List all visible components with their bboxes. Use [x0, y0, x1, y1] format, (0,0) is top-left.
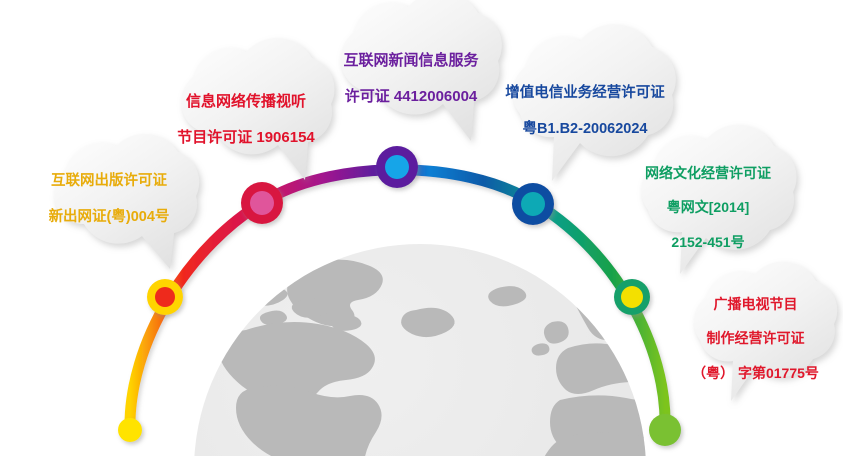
node-network-av[interactable] [241, 182, 283, 224]
bubble-text-line: 新出网证(粤)004号 [49, 209, 170, 227]
node-telecom-value-added[interactable] [512, 183, 554, 225]
node-network-culture[interactable] [614, 279, 650, 315]
bubble-network-culture-license[interactable]: 网络文化经营许可证 粤网文[2014] 2152-451号 [610, 168, 806, 248]
bubble-text-line: 粤B1.B2-20062024 [505, 121, 665, 139]
bubble-network-culture-license-text: 网络文化经营许可证 粤网文[2014] 2152-451号 [645, 148, 771, 268]
bubble-text-line: 许可证 4412006004 [343, 88, 478, 106]
bubble-internet-publishing-license-text: 互联网出版许可证 新出网证(粤)004号 [49, 156, 170, 244]
bubble-radio-tv-program-license-text: 广播电视节目 制作经营许可证 （粤） 字第01775号 [692, 279, 819, 399]
bubble-text-line: （粤） 字第01775号 [692, 365, 819, 382]
world-globe [194, 244, 710, 456]
bubble-network-av-program-license-text: 信息网络传播视听 节目许可证 1906154 [177, 74, 315, 165]
bubble-text-line: 制作经营许可证 [692, 330, 819, 347]
bubble-text-line: 增值电信业务经营许可证 [505, 85, 665, 103]
node-internet-news[interactable] [376, 146, 418, 188]
bubble-text-line: 2152-451号 [645, 234, 771, 251]
bubble-text-line: 互联网出版许可证 [49, 173, 170, 191]
arc-end-left [118, 418, 142, 442]
bubble-radio-tv-program-license[interactable]: 广播电视节目 制作经营许可证 （粤） 字第01775号 [668, 300, 843, 378]
bubble-value-added-telecom-license[interactable]: 增值电信业务经营许可证 粤B1.B2-20062024 [478, 70, 692, 154]
bubble-internet-publishing-license[interactable]: 互联网出版许可证 新出网证(粤)004号 [18, 158, 200, 242]
license-infographic: 互联网出版许可证 新出网证(粤)004号 信息网络传播视听 节目许可证 1906… [0, 0, 843, 456]
bubble-text-line: 广播电视节目 [692, 296, 819, 313]
bubble-text-line: 网络文化经营许可证 [645, 165, 771, 182]
node-internet-publishing[interactable] [147, 279, 183, 315]
bubble-text-line: 信息网络传播视听 [177, 93, 315, 111]
arc-end-right [649, 414, 681, 446]
bubble-text-line: 互联网新闻信息服务 [343, 52, 478, 70]
bubble-internet-news-service-license-text: 互联网新闻信息服务 许可证 4412006004 [343, 33, 478, 124]
bubble-text-line: 节目许可证 1906154 [177, 129, 315, 147]
bubble-value-added-telecom-license-text: 增值电信业务经营许可证 粤B1.B2-20062024 [505, 68, 665, 156]
bubble-text-line: 粤网文[2014] [645, 199, 771, 216]
